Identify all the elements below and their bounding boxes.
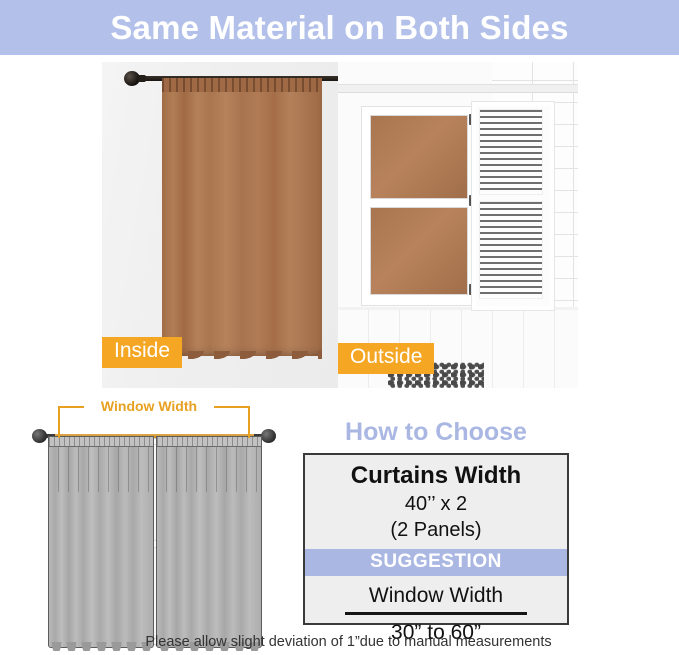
curtains-width-heading: Curtains Width <box>305 462 567 490</box>
diagram-finial-left-icon <box>32 429 47 443</box>
window-width-diagram: Window Width <box>20 398 288 648</box>
window-pane-top <box>370 115 468 199</box>
disclaimer-text: Please allow slight deviation of 1”due t… <box>0 634 679 650</box>
panel-folds-right <box>157 446 261 492</box>
window-width-measure-label: Window Width <box>305 583 567 608</box>
header-banner: Same Material on Both Sides <box>0 0 679 55</box>
curtains-width-panels: (2 Panels) <box>305 518 567 543</box>
window-frame <box>362 107 474 305</box>
shutter-louvers-bottom <box>479 201 543 299</box>
shutter-louvers-top <box>479 109 543 195</box>
page-title: Same Material on Both Sides <box>110 11 568 44</box>
rod-finial-neck-icon <box>138 75 146 82</box>
disclaimer-label: Please allow slight deviation of 1”due t… <box>127 634 551 650</box>
roof-trim <box>338 84 578 93</box>
how-to-choose-box: Curtains Width 40’’ x 2 (2 Panels) SUGGE… <box>303 453 569 625</box>
diagram-finial-right-icon <box>261 429 276 443</box>
curtain-hem <box>162 351 322 359</box>
panel-folds-left <box>49 446 153 492</box>
photo-strip: Inside Outside <box>102 62 578 388</box>
dimension-arrow-left-cap <box>58 406 60 438</box>
curtain-rod-pocket <box>162 78 322 92</box>
brown-curtain-panel <box>162 78 322 356</box>
badge-outside: Outside <box>338 343 434 374</box>
photo-outside: Outside <box>338 62 578 388</box>
badge-inside: Inside <box>102 337 182 368</box>
dimension-label: Window Width <box>84 398 214 414</box>
window-pane-bottom <box>370 207 468 295</box>
divider-rule <box>345 612 527 615</box>
louvered-shutter <box>472 102 554 310</box>
photo-inside: Inside <box>102 62 338 388</box>
curtains-width-size: 40’’ x 2 <box>305 492 567 517</box>
how-to-choose-title: How to Choose <box>303 420 569 445</box>
diagram-curtain-panel-right <box>156 436 262 648</box>
diagram-curtain-panel-left <box>48 436 154 648</box>
suggestion-band: SUGGESTION <box>305 549 567 576</box>
dimension-arrow-right-cap <box>248 406 250 438</box>
